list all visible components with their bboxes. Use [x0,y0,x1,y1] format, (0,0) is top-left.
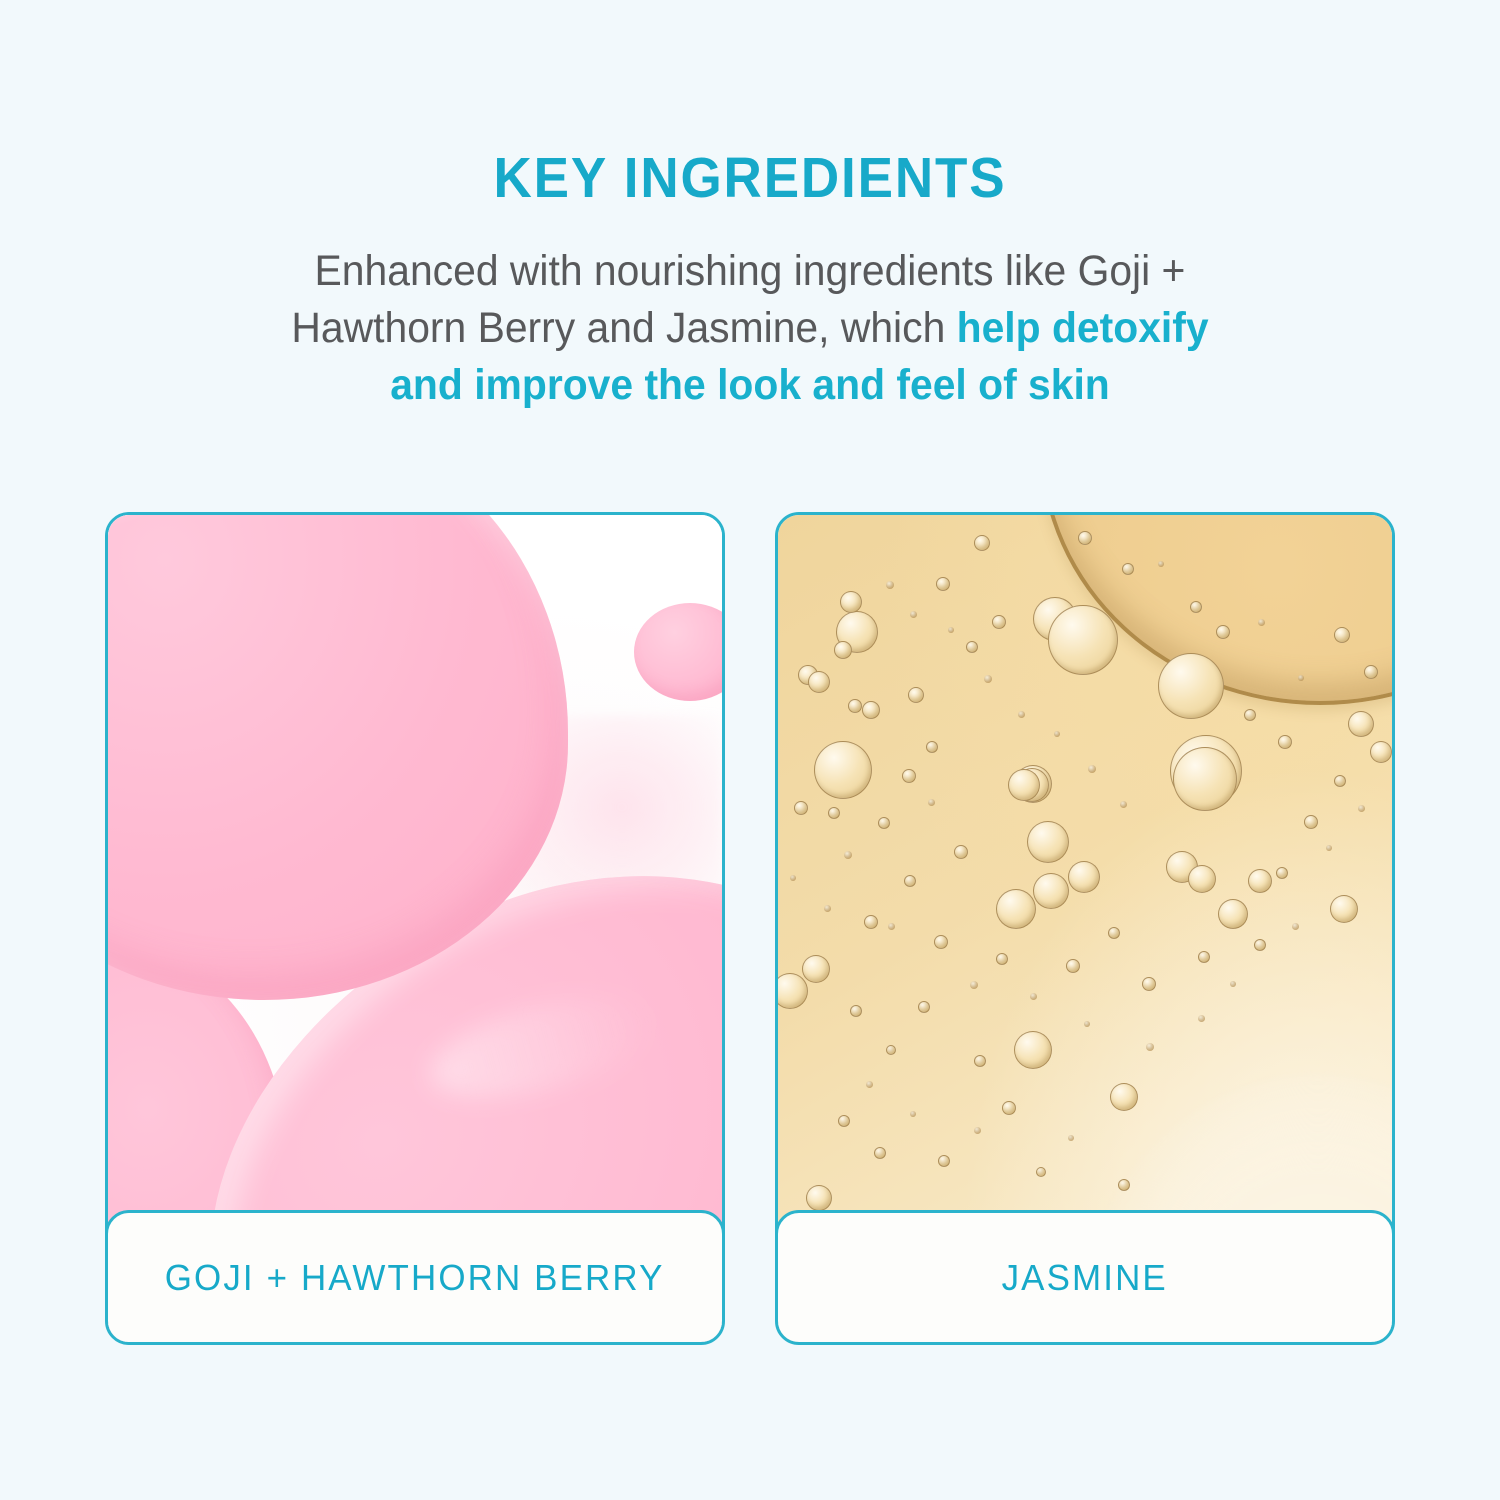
oil-bubble [844,851,852,859]
oil-bubble [1358,805,1365,812]
oil-bubble [1188,865,1216,893]
oil-bubble [1244,709,1256,721]
oil-bubble [834,641,852,659]
oil-bubble [1118,1179,1130,1191]
oil-bubble [934,935,948,949]
ingredient-card-goji-hawthorn-berry: GOJI + HAWTHORN BERRY [105,512,725,1345]
oil-bubble [1230,981,1236,987]
oil-bubble [1110,1083,1138,1111]
oil-bubble [1173,747,1237,811]
oil-bubble [1030,993,1037,1000]
oil-bubble [970,981,978,989]
subtitle-line-3-accent: and improve the look and feel of skin [190,357,1311,414]
oil-bubble [878,817,890,829]
oil-bubble [974,1127,981,1134]
oil-bubble [808,671,830,693]
oil-bubble [1348,711,1374,737]
oil-bubble [838,1115,850,1127]
oil-bubble [928,799,935,806]
oil-bubble [874,1147,886,1159]
oil-bubble [886,581,894,589]
oil-bubble [1014,1031,1052,1069]
oil-bubble [910,1111,916,1117]
oil-bubble [1278,735,1292,749]
subtitle-line-2: Hawthorn Berry and Jasmine, which help d… [190,300,1311,357]
card-label-text: JASMINE [1002,1257,1168,1299]
oil-bubble [806,1185,832,1211]
oil-bubble [814,741,872,799]
oil-bubble [1158,653,1224,719]
oil-bubble [1276,867,1288,879]
oil-bubble [848,699,862,713]
header-block: KEY INGREDIENTS Enhanced with nourishing… [0,0,1500,414]
oil-bubble [886,1045,896,1055]
oil-bubble [850,1005,862,1017]
oil-bubble [948,627,954,633]
oil-bubble [974,1055,986,1067]
oil-bubble [1326,845,1332,851]
oil-bubble [1002,1101,1016,1115]
oil-bubble [1258,619,1265,626]
subtitle-line-1: Enhanced with nourishing ingredients lik… [190,243,1311,300]
oil-bubble [1142,977,1156,991]
oil-bubble [1122,563,1134,575]
oil-bubble [840,591,862,613]
oil-bubble [1036,1167,1046,1177]
oil-bubble [1068,1135,1074,1141]
oil-bubble [1216,625,1230,639]
oil-bubble [1292,923,1299,930]
oil-bubble [908,687,924,703]
oil-bubble [864,915,878,929]
oil-bubble [938,1155,950,1167]
oil-bubble [974,535,990,551]
pink-blob-highlight [108,515,242,547]
subtitle-line-2-plain: Hawthorn Berry and Jasmine, which [291,304,956,352]
oil-bubble [1054,731,1060,737]
oil-bubble [936,577,950,591]
oil-bubble [1084,1021,1090,1027]
subtitle-line-2-accent: help detoxify [957,304,1209,352]
oil-bubble [1158,561,1164,567]
oil-bubble [1048,605,1118,675]
oil-bubble [1033,873,1069,909]
oil-bubble [1364,665,1378,679]
oil-bubble [1190,601,1202,613]
oil-bubble [1248,869,1272,893]
oil-bubble [1254,939,1266,951]
oil-bubble [1218,899,1248,929]
oil-bubble [794,801,808,815]
card-label-text: GOJI + HAWTHORN BERRY [165,1257,665,1299]
page-title: KEY INGREDIENTS [53,0,1448,207]
oil-bubble [902,769,916,783]
card-label-strip: JASMINE [775,1210,1395,1345]
oil-bubble [1370,741,1392,763]
oil-bubble [790,875,796,881]
oil-bubble [1066,959,1080,973]
oil-bubble [992,615,1006,629]
oil-bubble [1068,861,1100,893]
oil-bubble [1146,1043,1154,1051]
ingredient-card-grid: GOJI + HAWTHORN BERRY [105,512,1395,1345]
oil-bubble [904,875,916,887]
oil-bubble [862,701,880,719]
oil-bubble [918,1001,930,1013]
oil-bubble [996,953,1008,965]
oil-bubble [1198,1015,1205,1022]
oil-bubble [1027,821,1069,863]
oil-bubble [1078,531,1092,545]
pink-blob-highlight [420,978,663,1117]
oil-bubble [828,807,840,819]
oil-bubble [824,905,831,912]
oil-bubble [1198,951,1210,963]
oil-bubble [926,741,938,753]
oil-bubble [1018,711,1025,718]
oil-bubble [1304,815,1318,829]
oil-bubble [910,611,917,618]
oil-bubble [1334,627,1350,643]
oil-bubble [1088,765,1096,773]
oil-bubble [1298,675,1304,681]
oil-bubble [966,641,978,653]
oil-bubble [888,923,895,930]
oil-bubble [866,1081,873,1088]
oil-bubble [1108,927,1120,939]
ingredient-card-jasmine: JASMINE [775,512,1395,1345]
card-label-strip: GOJI + HAWTHORN BERRY [105,1210,725,1345]
oil-bubble [1008,769,1040,801]
oil-bubble [1334,775,1346,787]
oil-bubble [954,845,968,859]
oil-bubble [1120,801,1127,808]
subtitle-paragraph: Enhanced with nourishing ingredients lik… [190,207,1311,414]
oil-bubble [1330,895,1358,923]
oil-bubble [802,955,830,983]
oil-bubble [996,889,1036,929]
oil-bubble [984,675,992,683]
